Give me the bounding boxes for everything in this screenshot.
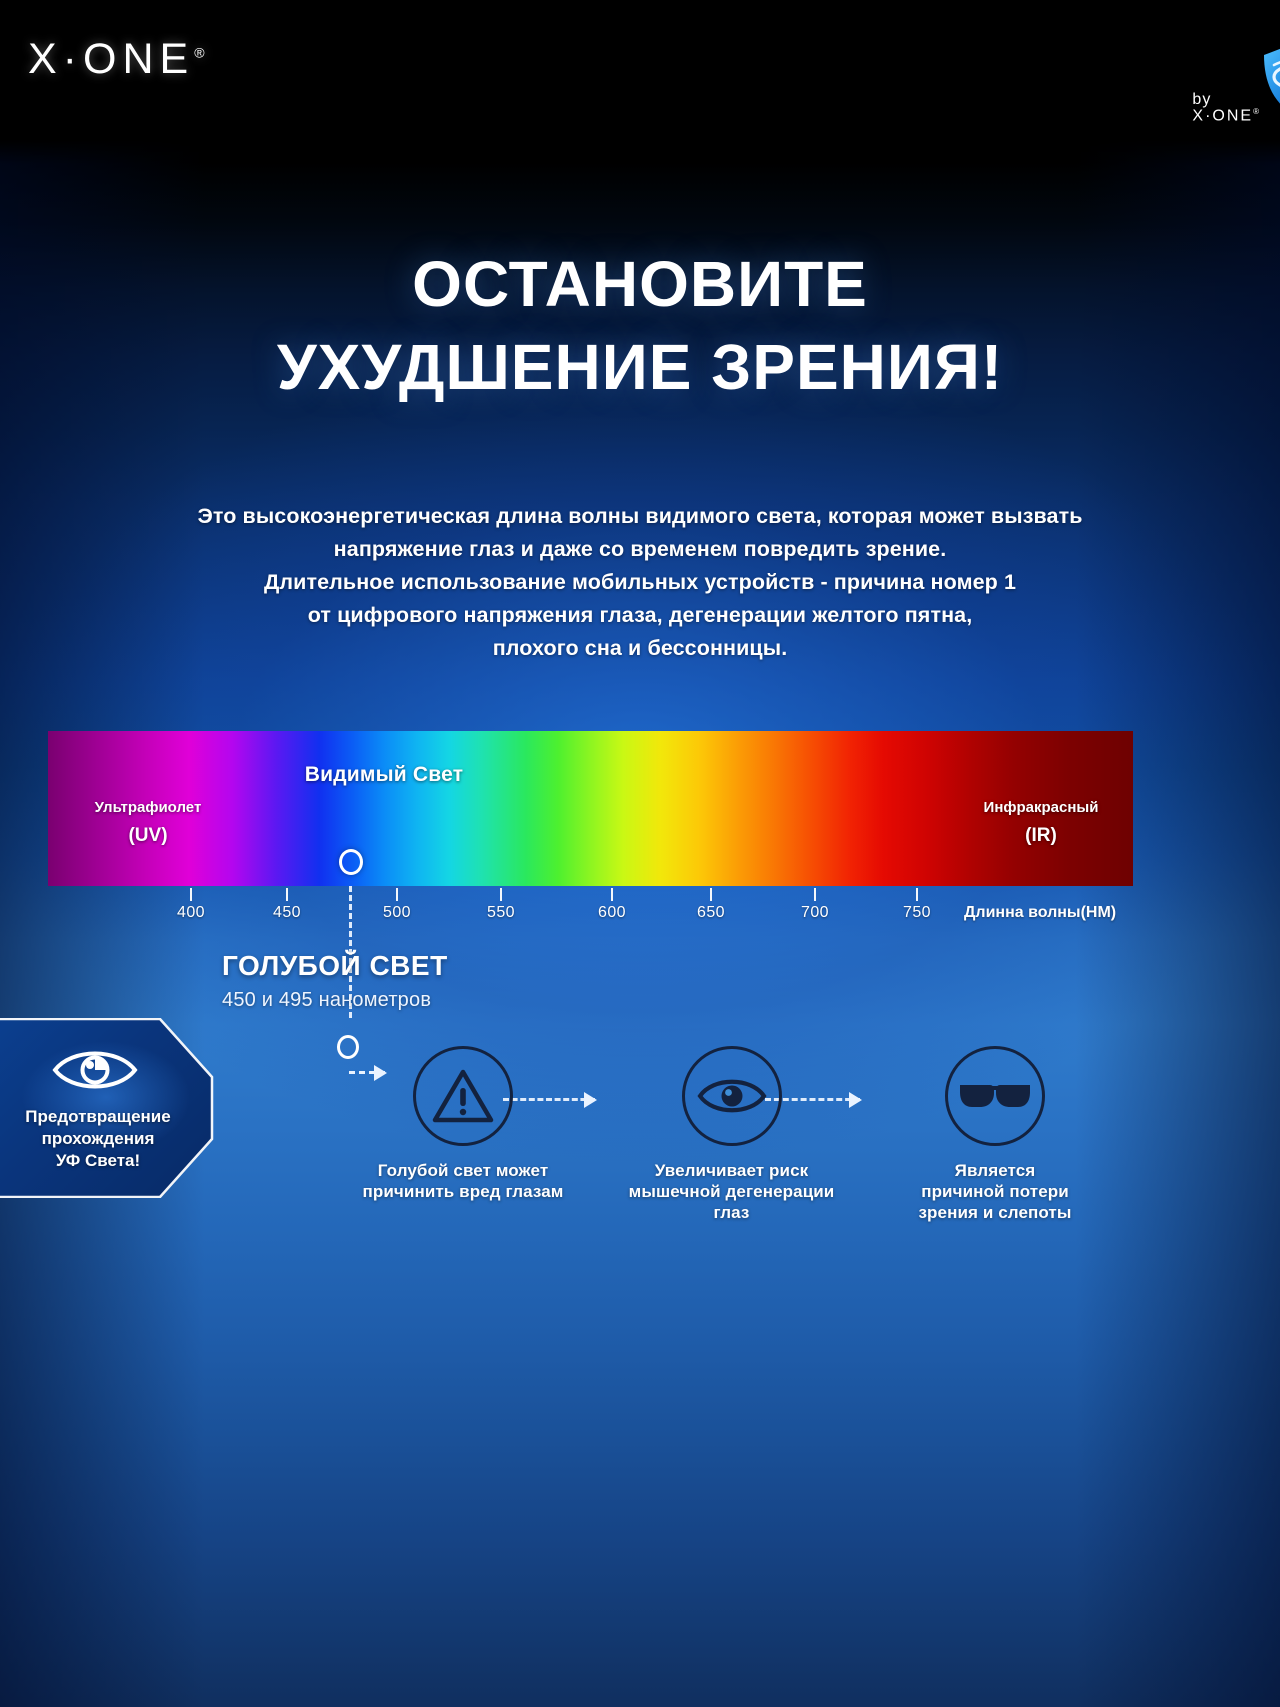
uv-label-text: Ультрафиолет [95,799,202,816]
badge-text: Предотвращение прохождения УФ Света! [0,1106,196,1172]
xone-logo-registered-mark: ® [194,45,204,61]
axis-tick [190,888,192,901]
flow-node-circle [413,1046,513,1146]
callout-to-flow-connector [349,1071,385,1074]
uv-protection-badge: Предотвращение прохождения УФ Света! [0,1018,212,1198]
spectrum-uv-label: Ультрафиолет (UV) [58,799,238,848]
spectrum-marker-icon [339,849,363,875]
sunglasses-icon [958,1079,1032,1113]
intro-paragraph: Это высокоэнергетическая длина волны вид… [0,500,1280,665]
axis-tick-label: 650 [697,904,725,922]
axis-tick-label: 700 [801,904,829,922]
spectrum-ir-label: Инфракрасный (IR) [951,799,1131,848]
axis-tick [500,888,502,901]
infographic-page: X·ONE® ARMORVISOR by [0,0,1280,1707]
axis-tick-label: 550 [487,904,515,922]
callout-title: ГОЛУБОЙ СВЕТ [222,950,448,982]
flow-node-caption: Голубой свет может причинить вред глазам [338,1160,588,1202]
ir-abbreviation: (IR) [951,824,1131,848]
axis-tick-label: 400 [177,904,205,922]
callout-subtitle: 450 и 495 нанометров [222,989,448,1012]
headline-line-1: ОСТАНОВИТЕ [0,252,1280,317]
axis-tick [396,888,398,901]
spectrum-visible-label: Видимый Свет [254,762,514,788]
armorvisor-byline: by X·ONE® [1192,92,1260,124]
byline-prefix: by [1192,91,1211,108]
xone-logo: X·ONE® [28,38,205,81]
flow-node-caption: Является причиной потери зрения и слепот… [875,1160,1115,1223]
intro-line-4: от цифрового напряжения глаза, дегенерац… [0,599,1280,632]
axis-tick-label: 750 [903,904,931,922]
page-header: X·ONE® ARMORVISOR by [0,0,1280,140]
byline-brand: X·ONE [1192,107,1253,124]
blue-light-callout: ГОЛУБОЙ СВЕТ 450 и 495 нанометров [222,950,448,1012]
uv-abbreviation: (UV) [58,824,238,848]
axis-tick [916,888,918,901]
axis-tick-label: 500 [383,904,411,922]
wavelength-axis: Длинна волны(НМ) 40045050055060065070075… [48,886,1133,936]
intro-line-1: Это высокоэнергетическая длина волны вид… [0,500,1280,533]
ir-label-text: Инфракрасный [984,799,1099,816]
connector-arrow-icon [374,1065,387,1081]
flow-node-circle [945,1046,1045,1146]
shield-eye-icon [1262,43,1280,115]
axis-tick-label: 450 [273,904,301,922]
flow-node-caption: Увеличивает риск мышечной дегенерации гл… [599,1160,864,1223]
intro-line-2: напряжение глаз и даже со временем повре… [0,533,1280,566]
xone-logo-text: X·ONE [28,35,194,83]
axis-tick [814,888,816,901]
axis-title: Длинна волны(НМ) [964,904,1116,922]
eye-shield-icon [52,1044,138,1096]
headline-line-2: УХУДШЕНИЕ ЗРЕНИЯ! [0,335,1280,400]
eye-icon [697,1073,767,1119]
flow-node-eye: Увеличивает риск мышечной дегенерации гл… [599,1046,864,1223]
axis-tick-label: 600 [598,904,626,922]
intro-line-5: плохого сна и бессонницы. [0,632,1280,665]
spectrum-gradient-bar: Видимый Свет Ультрафиолет (UV) Инфракрас… [48,731,1133,886]
axis-tick [286,888,288,901]
warning-triangle-icon [432,1068,494,1124]
intro-line-3: Длительное использование мобильных устро… [0,566,1280,599]
byline-registered-mark: ® [1253,107,1260,116]
flow-node-circle [682,1046,782,1146]
flow-node-sunglasses: Является причиной потери зрения и слепот… [875,1046,1115,1223]
axis-tick [611,888,613,901]
axis-tick [710,888,712,901]
spectrum-chart: Видимый Свет Ультрафиолет (UV) Инфракрас… [0,731,1280,936]
page-title: ОСТАНОВИТЕ УХУДШЕНИЕ ЗРЕНИЯ! [0,252,1280,401]
